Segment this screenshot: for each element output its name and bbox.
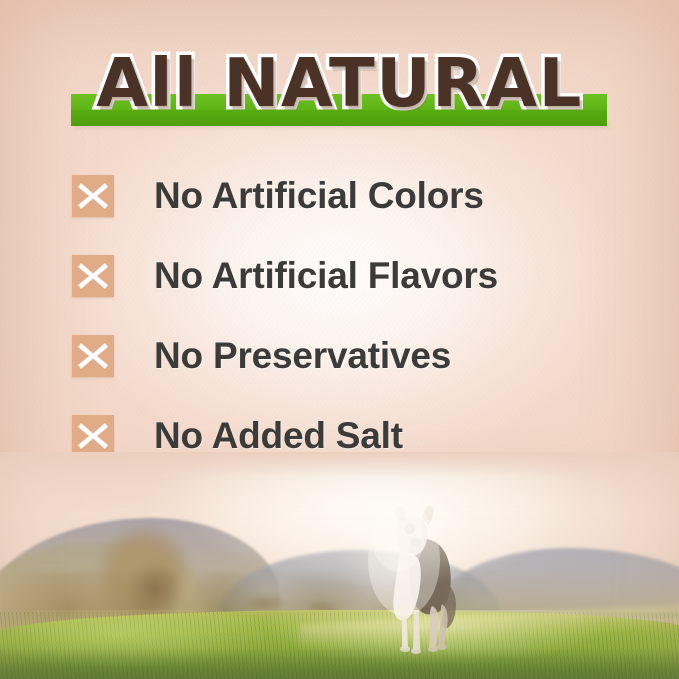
border-collie-dog	[358, 498, 478, 658]
list-item: No Artificial Colors	[72, 172, 632, 220]
x-mark-icon	[72, 255, 114, 297]
list-item-label: No Preservatives	[154, 335, 451, 377]
claims-list: No Artificial Colors No Artificial Flavo…	[72, 172, 632, 460]
list-item: No Artificial Flavors	[72, 252, 632, 300]
all-natural-product-claim-poster: All NATURAL No Artificial Colors No Arti…	[0, 0, 679, 679]
list-item-label: No Artificial Colors	[154, 175, 484, 217]
list-item-label: No Added Salt	[154, 415, 403, 457]
list-item: No Preservatives	[72, 332, 632, 380]
x-mark-icon	[72, 175, 114, 217]
headline-block: All NATURAL	[0, 44, 679, 136]
x-mark-icon	[72, 335, 114, 377]
list-item-label: No Artificial Flavors	[154, 255, 498, 297]
page-title: All NATURAL	[0, 44, 679, 122]
grass-field	[0, 610, 679, 679]
lifestyle-photo	[0, 452, 679, 679]
x-mark-icon	[72, 415, 114, 457]
